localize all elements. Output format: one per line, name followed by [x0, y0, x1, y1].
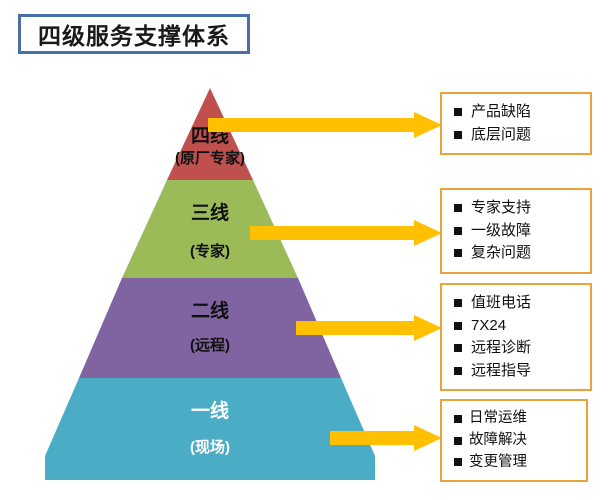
list-item: 值班电话: [454, 292, 580, 315]
square-bullet-icon: [454, 299, 462, 307]
list-item-label: 远程诊断: [471, 337, 531, 360]
arrow-tier-3: [250, 220, 442, 246]
list-item-label: 故障解决: [469, 430, 527, 452]
arrow-tier-1: [330, 425, 442, 451]
list-item: 一级故障: [454, 220, 580, 243]
list-item: 日常运维: [454, 408, 576, 430]
callout-tier-3-list: 专家支持 一级故障 复杂问题: [454, 197, 580, 265]
callout-tier-1-list: 日常运维 故障解决 变更管理: [454, 408, 576, 473]
diagram-title-box: 四级服务支撑体系: [18, 14, 250, 54]
square-bullet-icon: [454, 437, 462, 445]
list-item: 复杂问题: [454, 242, 580, 265]
arrow-tier-4: [208, 112, 442, 138]
square-bullet-icon: [454, 249, 462, 257]
list-item-label: 复杂问题: [471, 242, 531, 265]
square-bullet-icon: [454, 204, 462, 212]
list-item-label: 远程指导: [471, 360, 531, 383]
arrow-tier-2: [296, 315, 442, 341]
list-item: 专家支持: [454, 197, 580, 220]
callout-tier-3: 专家支持 一级故障 复杂问题: [440, 188, 592, 274]
list-item-label: 底层问题: [471, 124, 531, 147]
pyramid-tier-1[interactable]: 一线 (现场): [45, 378, 375, 480]
list-item-label: 一级故障: [471, 220, 531, 243]
list-item: 7X24: [454, 315, 580, 338]
callout-tier-1: 日常运维 故障解决 变更管理: [440, 399, 588, 482]
page-title: 四级服务支撑体系: [38, 17, 230, 51]
callout-tier-2: 值班电话 7X24 远程诊断 远程指导: [440, 283, 592, 391]
list-item: 产品缺陷: [454, 101, 580, 124]
list-item: 故障解决: [454, 430, 576, 452]
callout-tier-4: 产品缺陷 底层问题: [440, 92, 592, 155]
square-bullet-icon: [454, 415, 462, 423]
tier-1-shape: [45, 378, 375, 480]
square-bullet-icon: [454, 458, 462, 466]
square-bullet-icon: [454, 131, 462, 139]
square-bullet-icon: [454, 322, 462, 330]
callout-tier-4-list: 产品缺陷 底层问题: [454, 101, 580, 146]
list-item-label: 日常运维: [469, 408, 527, 430]
list-item-label: 产品缺陷: [471, 101, 531, 124]
list-item-label: 专家支持: [471, 197, 531, 220]
square-bullet-icon: [454, 367, 462, 375]
list-item-label: 7X24: [471, 315, 506, 338]
list-item-label: 变更管理: [469, 452, 527, 474]
square-bullet-icon: [454, 344, 462, 352]
square-bullet-icon: [454, 227, 462, 235]
list-item: 远程诊断: [454, 337, 580, 360]
pyramid-diagram: 四线 (原厂专家) 三线 (专家) 二线 (远程) 一线 (现场): [45, 88, 375, 488]
list-item: 变更管理: [454, 452, 576, 474]
list-item-label: 值班电话: [471, 292, 531, 315]
callout-tier-2-list: 值班电话 7X24 远程诊断 远程指导: [454, 292, 580, 382]
square-bullet-icon: [454, 108, 462, 116]
list-item: 远程指导: [454, 360, 580, 383]
list-item: 底层问题: [454, 124, 580, 147]
